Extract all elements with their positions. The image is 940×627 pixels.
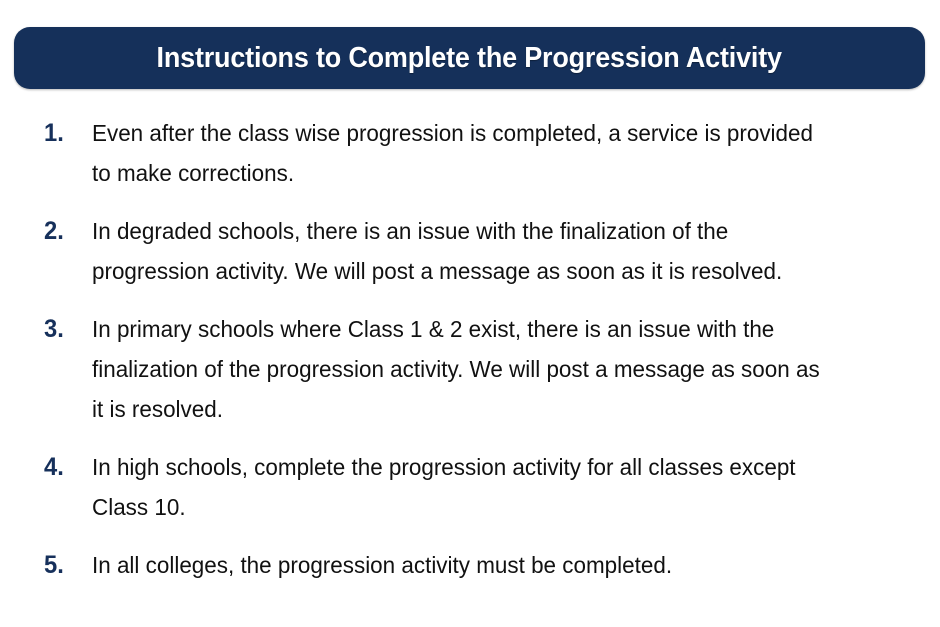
list-item-text: In primary schools where Class 1 & 2 exi… [92, 309, 867, 429]
instructions-slide: Instructions to Complete the Progression… [0, 0, 940, 627]
list-item: 5. In all colleges, the progression acti… [0, 545, 940, 585]
list-item-number: 5. [44, 545, 90, 585]
list-item: 4. In high schools, complete the progres… [0, 447, 940, 527]
page-title: Instructions to Complete the Progression… [157, 44, 782, 73]
header-banner: Instructions to Complete the Progression… [14, 27, 925, 89]
list-item: 3. In primary schools where Class 1 & 2 … [0, 309, 940, 429]
list-item-text: In degraded schools, there is an issue w… [92, 211, 867, 291]
instruction-list: 1. Even after the class wise progression… [0, 113, 940, 585]
list-item-number: 1. [44, 113, 90, 153]
list-item-text: In high schools, complete the progressio… [92, 447, 867, 527]
list-item-number: 3. [44, 309, 90, 349]
list-item: 1. Even after the class wise progression… [0, 113, 940, 193]
list-item: 2. In degraded schools, there is an issu… [0, 211, 940, 291]
list-item-number: 4. [44, 447, 90, 487]
list-item-number: 2. [44, 211, 90, 251]
list-item-text: In all colleges, the progression activit… [92, 545, 867, 585]
list-item-text: Even after the class wise progression is… [92, 113, 867, 193]
